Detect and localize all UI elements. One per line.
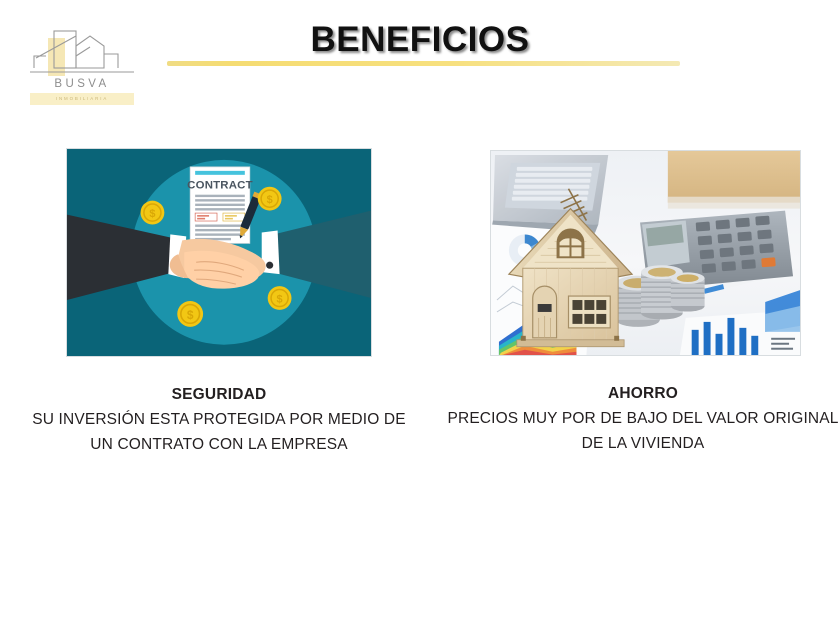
benefit-heading: SEGURIDAD: [23, 382, 415, 407]
svg-text:$: $: [267, 194, 273, 206]
benefit-card-seguridad: CONTRACT: [23, 148, 415, 457]
coin-icon: $: [141, 201, 165, 225]
coin-icon: $: [258, 187, 282, 211]
benefit-card-ahorro: AHORRO PRECIOS MUY POR DE BAJO DEL VALOR…: [447, 150, 839, 456]
laptop: [491, 155, 608, 234]
benefit-caption-ahorro: AHORRO PRECIOS MUY POR DE BAJO DEL VALOR…: [447, 381, 839, 456]
logo-wordmark: BUSVA: [26, 78, 138, 90]
svg-text:$: $: [149, 208, 155, 220]
coin-icon: $: [268, 286, 292, 310]
svg-text:CONTRACT: CONTRACT: [187, 180, 253, 192]
benefit-body: PRECIOS MUY POR DE BAJO DEL VALOR ORIGIN…: [447, 406, 839, 456]
svg-text:$: $: [187, 308, 194, 322]
benefit-heading: AHORRO: [447, 381, 839, 406]
benefit-body: SU INVERSIÓN ESTA PROTEGIDA POR MEDIO DE…: [23, 407, 415, 457]
title-underline-rule: [167, 61, 680, 66]
page-title: BENEFICIOS: [0, 20, 840, 60]
model-house-coins-calculator-photo: [490, 150, 801, 356]
house-photo-svg: [491, 151, 800, 356]
logo-subtitle: INMOBILIARIA: [30, 93, 134, 105]
benefit-caption-seguridad: SEGURIDAD SU INVERSIÓN ESTA PROTEGIDA PO…: [23, 382, 415, 457]
svg-text:$: $: [277, 294, 283, 306]
handshake-illustration-svg: CONTRACT: [67, 149, 371, 357]
slide-canvas: BUSVA INMOBILIARIA BENEFICIOS CONTRACT: [0, 0, 840, 630]
handshake-contract-illustration: CONTRACT: [66, 148, 372, 357]
coin-icon: $: [177, 301, 203, 327]
